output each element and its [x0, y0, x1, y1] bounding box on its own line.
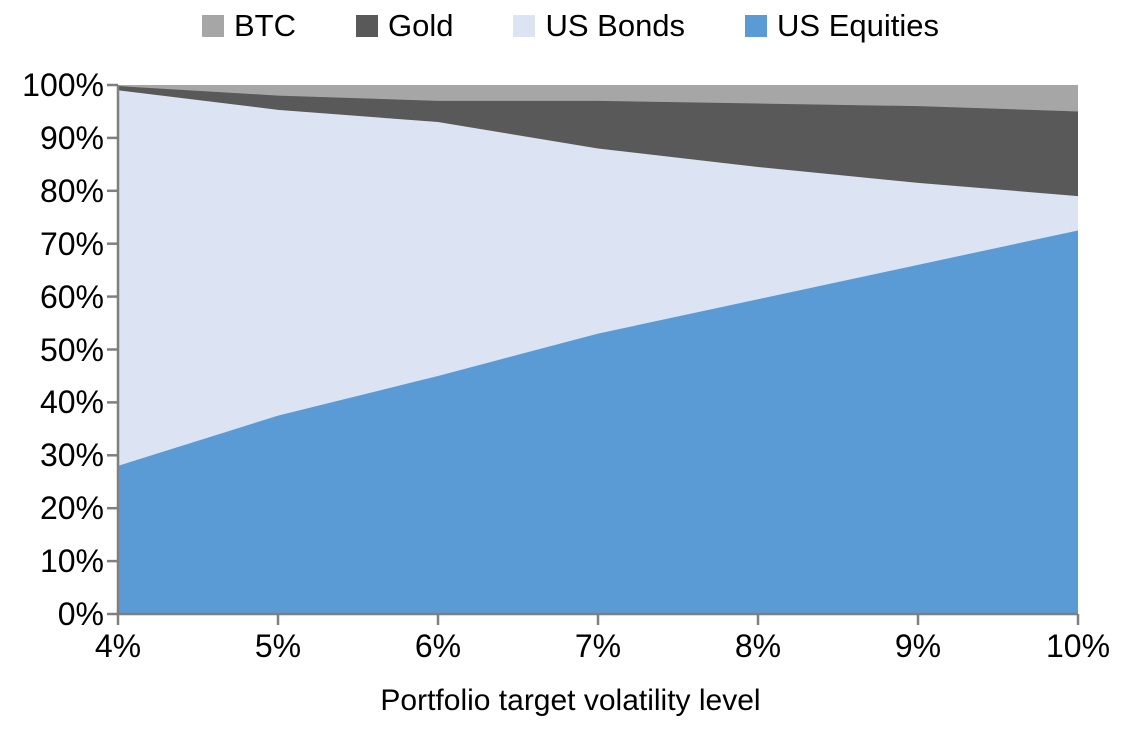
x-axis-tick-label: 5% [218, 630, 338, 662]
x-axis-tick-label: 10% [1018, 630, 1138, 662]
stacked-area-chart: BTC Gold US Bonds US Equities 0%10%20%30… [0, 0, 1141, 742]
x-axis-labels: 4%5%6%7%8%9%10% [0, 0, 1141, 742]
x-axis-tick-label: 4% [58, 630, 178, 662]
x-axis-tick-label: 6% [378, 630, 498, 662]
x-axis-tick-label: 7% [538, 630, 658, 662]
x-axis-tick-label: 9% [858, 630, 978, 662]
x-axis-title: Portfolio target volatility level [0, 686, 1141, 716]
x-axis-tick-label: 8% [698, 630, 818, 662]
